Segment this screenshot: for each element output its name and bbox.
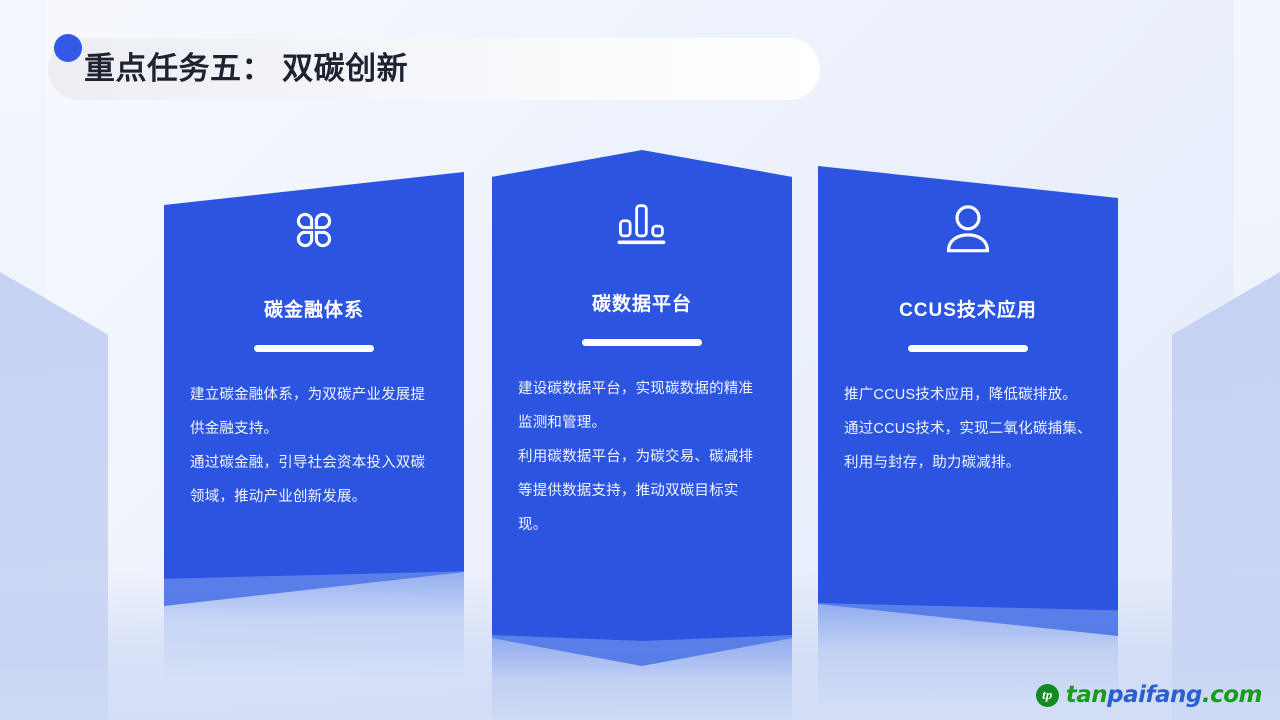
card-body: 建设碳数据平台，实现碳数据的精准监测和管理。 利用碳数据平台，为碳交易、碳减排等… bbox=[518, 372, 766, 542]
card-ccus-technology[interactable]: CCUS技术应用 推广CCUS技术应用，降低碳排放。 通过CCUS技术，实现二氧… bbox=[818, 166, 1118, 636]
card-reflection bbox=[164, 571, 464, 679]
tp-logo-icon: tp bbox=[1036, 684, 1059, 707]
card-body-line: 通过碳金融，引导社会资本投入双碳领域，推动产业创新发展。 bbox=[190, 446, 438, 514]
card-divider bbox=[908, 345, 1028, 352]
bar-chart-icon bbox=[614, 188, 670, 260]
card-body-line: 通过CCUS技术，实现二氧化碳捕集、利用与封存，助力碳减排。 bbox=[844, 412, 1092, 480]
card-carbon-data-platform[interactable]: 碳数据平台 建设碳数据平台，实现碳数据的精准监测和管理。 利用碳数据平台，为碳交… bbox=[492, 150, 792, 666]
card-body: 建立碳金融体系，为双碳产业发展提供金融支持。 通过碳金融，引导社会资本投入双碳领… bbox=[190, 378, 438, 514]
card-carbon-finance[interactable]: 碳金融体系 建立碳金融体系，为双碳产业发展提供金融支持。 通过碳金融，引导社会资… bbox=[164, 172, 464, 606]
card-body: 推广CCUS技术应用，降低碳排放。 通过CCUS技术，实现二氧化碳捕集、利用与封… bbox=[844, 378, 1092, 480]
card-body-line: 建立碳金融体系，为双碳产业发展提供金融支持。 bbox=[190, 378, 438, 446]
user-person-icon bbox=[941, 194, 995, 266]
card-title: 碳数据平台 bbox=[592, 294, 692, 317]
watermark-text: tanpaifang.com bbox=[1066, 682, 1262, 708]
watermark-logo[interactable]: tp tanpaifang.com bbox=[1036, 682, 1262, 708]
card-divider bbox=[582, 339, 702, 346]
card-body-line: 推广CCUS技术应用，降低碳排放。 bbox=[844, 378, 1092, 412]
clover-four-petal-icon bbox=[285, 194, 343, 266]
card-group: 碳金融体系 建立碳金融体系，为双碳产业发展提供金融支持。 通过碳金融，引导社会资… bbox=[0, 0, 1280, 720]
card-title: CCUS技术应用 bbox=[899, 300, 1037, 323]
card-body-line: 建设碳数据平台，实现碳数据的精准监测和管理。 bbox=[518, 372, 766, 440]
watermark-part-paifang: paifang bbox=[1107, 682, 1202, 708]
slide-canvas: 重点任务五： 双碳创新 碳金融体系 建立碳金融体系，为双碳产 bbox=[0, 0, 1280, 720]
card-divider bbox=[254, 345, 374, 352]
watermark-part-tan: tan bbox=[1066, 682, 1107, 708]
card-body-line: 利用碳数据平台，为碳交易、碳减排等提供数据支持，推动双碳目标实现。 bbox=[518, 440, 766, 542]
card-title: 碳金融体系 bbox=[264, 300, 364, 323]
card-reflection bbox=[492, 635, 792, 720]
watermark-part-com: .com bbox=[1202, 682, 1262, 708]
